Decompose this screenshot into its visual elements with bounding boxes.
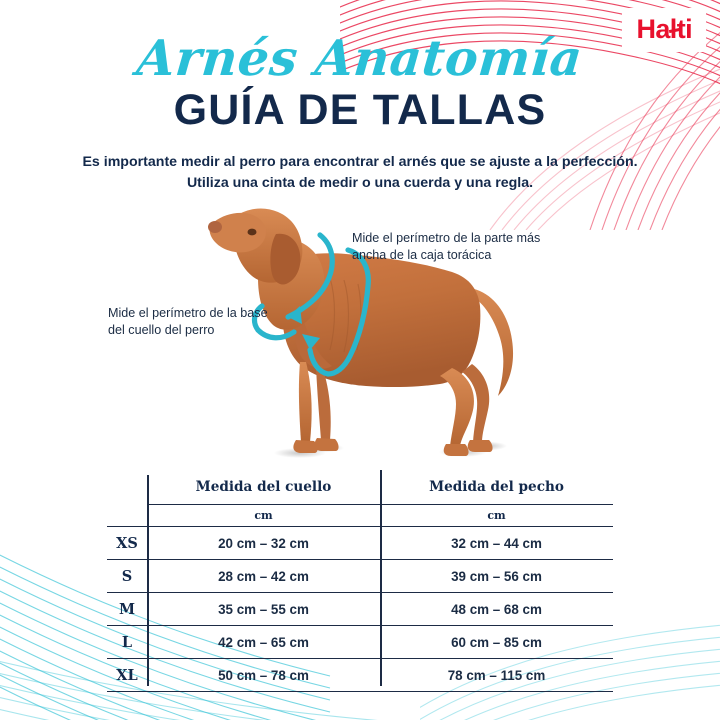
callout-neck: Mide el perímetro de la base del cuello …	[108, 305, 278, 339]
row-chest: 39 cm – 56 cm	[380, 560, 613, 593]
table-body: XS 20 cm – 32 cm 32 cm – 44 cm S 28 cm –…	[107, 527, 613, 692]
table-size-divider	[147, 475, 149, 686]
row-neck: 28 cm – 42 cm	[147, 560, 380, 593]
size-guide-page: Halti Arnés Anatomía GUÍA DE TALLAS Es i…	[0, 0, 720, 720]
size-table: Medida del cuello Medida del pecho cm cm…	[107, 470, 613, 692]
row-chest: 48 cm – 68 cm	[380, 593, 613, 626]
row-neck: 42 cm – 65 cm	[147, 626, 380, 659]
table-row: S 28 cm – 42 cm 39 cm – 56 cm	[107, 560, 613, 593]
row-size: S	[107, 560, 147, 593]
subtitle-line-2: Utiliza una cinta de medir o una cuerda …	[0, 173, 720, 194]
row-size: M	[107, 593, 147, 626]
logo-text: Halti	[636, 16, 692, 43]
callout-chest: Mide el perímetro de la parte más ancha …	[352, 230, 552, 264]
row-size: XL	[107, 659, 147, 692]
size-table-region: Medida del cuello Medida del pecho cm cm…	[0, 470, 720, 720]
unit-size-blank	[107, 505, 147, 527]
row-neck: 50 cm – 78 cm	[147, 659, 380, 692]
header-size	[107, 470, 147, 505]
table-unit-row: cm cm	[107, 505, 613, 527]
brand-logo: Halti	[622, 8, 706, 52]
table-row: M 35 cm – 55 cm 48 cm – 68 cm	[107, 593, 613, 626]
page-title-script: Arnés Anatomía	[135, 34, 584, 83]
unit-chest: cm	[380, 505, 613, 527]
row-neck: 35 cm – 55 cm	[147, 593, 380, 626]
unit-neck: cm	[147, 505, 380, 527]
table-center-divider	[380, 470, 382, 686]
row-chest: 32 cm – 44 cm	[380, 527, 613, 560]
row-size: L	[107, 626, 147, 659]
subtitle-line-1: Es importante medir al perro para encont…	[0, 152, 720, 173]
neck-arrow-arc	[288, 235, 332, 317]
page-subtitle: Es importante medir al perro para encont…	[0, 152, 720, 193]
table-header-row: Medida del cuello Medida del pecho	[107, 470, 613, 505]
header-chest: Medida del pecho	[380, 470, 613, 505]
table-row: XS 20 cm – 32 cm 32 cm – 44 cm	[107, 527, 613, 560]
page-header: Arnés Anatomía GUÍA DE TALLAS Es importa…	[0, 0, 720, 193]
table-row: L 42 cm – 65 cm 60 cm – 85 cm	[107, 626, 613, 659]
logo-wordmark: Halti	[636, 14, 692, 44]
row-chest: 60 cm – 85 cm	[380, 626, 613, 659]
row-size: XS	[107, 527, 147, 560]
row-chest: 78 cm – 115 cm	[380, 659, 613, 692]
dog-illustration-region: Mide el perímetro de la parte más ancha …	[0, 200, 720, 470]
row-neck: 20 cm – 32 cm	[147, 527, 380, 560]
header-neck: Medida del cuello	[147, 470, 380, 505]
chest-arrow-head	[302, 334, 320, 350]
page-title: GUÍA DE TALLAS	[0, 89, 720, 132]
table-row: XL 50 cm – 78 cm 78 cm – 115 cm	[107, 659, 613, 692]
